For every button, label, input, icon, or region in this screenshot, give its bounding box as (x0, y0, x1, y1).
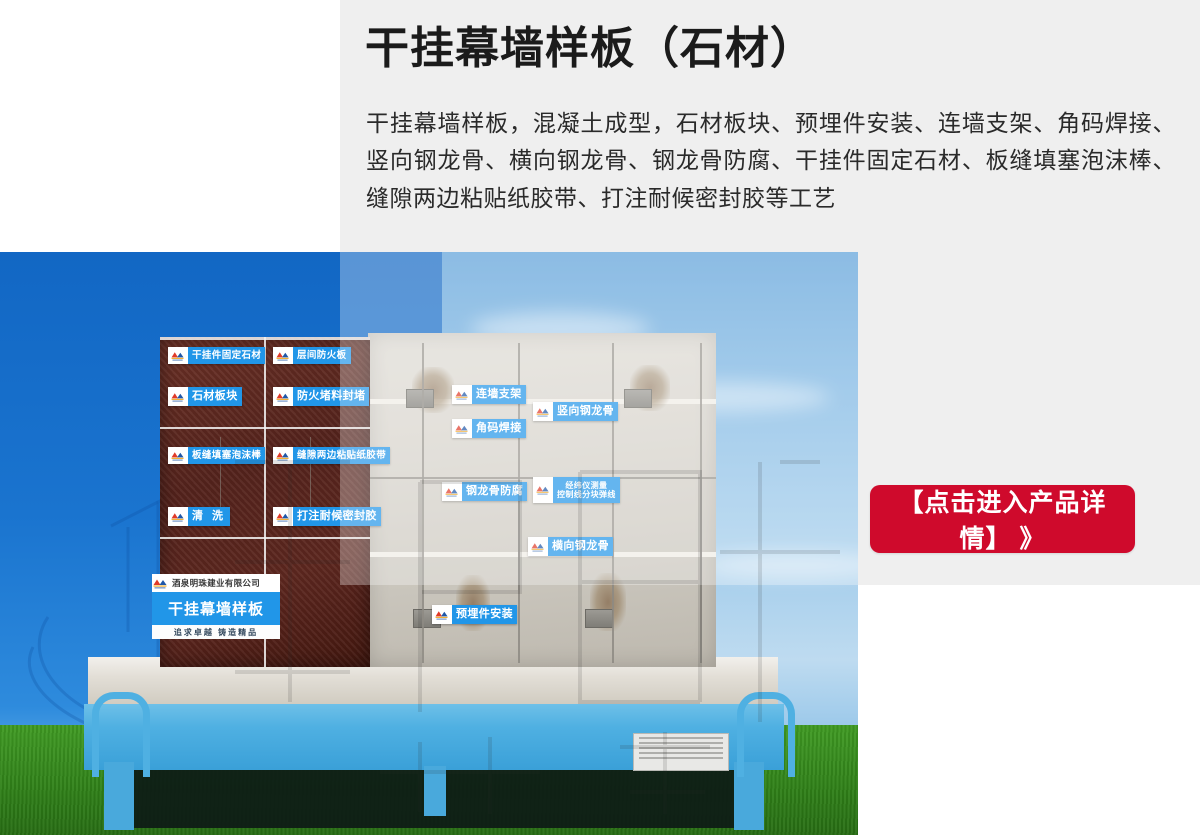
company-board: 酒泉明珠建业有限公司 干挂幕墙样板 追求卓越 铸造精品 (152, 574, 280, 639)
tag-label: 防火堵料封堵 (293, 387, 369, 406)
lifting-handle (737, 692, 795, 777)
company-logo-icon (168, 507, 188, 526)
company-logo-icon (152, 577, 169, 590)
tag-wall-2: 角码焊接 (452, 419, 526, 438)
tag-label-line2: 控制线分块弹线 (557, 490, 616, 499)
tag-stone-5: 缝隙两边粘贴纸胶带 (273, 447, 390, 464)
tag-label: 缝隙两边粘贴纸胶带 (293, 447, 390, 464)
tag-wall-3: 钢龙骨防腐 (442, 482, 527, 501)
tag-wall-4: 经纬仪测量 控制线分块弹线 (533, 477, 620, 503)
company-logo-icon (533, 477, 553, 503)
page-root: 干挂幕墙样板（石材） 干挂幕墙样板，混凝土成型，石材板块、预埋件安装、连墙支架、… (0, 0, 1200, 835)
tag-label: 干挂件固定石材 (188, 347, 265, 364)
company-logo-icon (168, 387, 188, 406)
company-logo-icon (168, 447, 188, 464)
company-logo-icon (432, 605, 452, 624)
wall-assembly: 酒泉明珠建业有限公司 干挂幕墙样板 追求卓越 铸造精品 干挂件固定石材 层间防火… (160, 337, 715, 685)
base-nameplate (633, 733, 729, 771)
lifting-handle (92, 692, 150, 777)
tag-label: 层间防火板 (293, 347, 351, 364)
keel-line (700, 343, 702, 663)
company-logo-icon (528, 537, 548, 556)
tag-stone-3: 防火堵料封堵 (273, 387, 369, 406)
base-leg (424, 766, 446, 816)
tag-wall-6: 预埋件安装 (432, 605, 517, 624)
tag-label: 打注耐候密封胶 (293, 507, 381, 526)
tag-wall-5: 横向钢龙骨 (528, 537, 613, 556)
tag-label: 竖向钢龙骨 (553, 402, 618, 421)
company-logo-icon (273, 447, 293, 464)
company-board-slogan: 追求卓越 铸造精品 (152, 625, 280, 639)
company-logo-icon (452, 419, 472, 438)
product-photo: 酒泉明珠建业有限公司 干挂幕墙样板 追求卓越 铸造精品 干挂件固定石材 层间防火… (0, 252, 858, 835)
tag-label: 预埋件安装 (452, 605, 517, 624)
tag-stone-6: 清 洗 (168, 507, 230, 526)
tag-wall-1: 竖向钢龙骨 (533, 402, 618, 421)
tag-label: 横向钢龙骨 (548, 537, 613, 556)
tag-label: 板缝填塞泡沫棒 (188, 447, 265, 464)
product-detail-button[interactable]: 【点击进入产品详情】 》 (870, 485, 1135, 553)
company-logo-icon (273, 507, 293, 526)
tag-wall-0: 连墙支架 (452, 385, 526, 404)
company-logo-icon (533, 402, 553, 421)
company-logo-icon (273, 387, 293, 406)
tag-stone-0: 干挂件固定石材 (168, 347, 265, 364)
tag-label: 连墙支架 (472, 385, 526, 404)
keel-line (422, 343, 424, 663)
wall-bracket (406, 389, 434, 408)
tag-label: 石材板块 (188, 387, 242, 406)
keel-line (612, 343, 614, 663)
tag-stone-2: 石材板块 (168, 387, 242, 406)
company-board-title: 干挂幕墙样板 (152, 592, 280, 625)
product-description: 干挂幕墙样板，混凝土成型，石材板块、预埋件安装、连墙支架、角码焊接、竖向钢龙骨、… (366, 105, 1176, 217)
company-logo-icon (168, 347, 188, 364)
tag-label-line1: 经纬仪测量 (565, 481, 607, 490)
tag-label: 清 洗 (188, 507, 230, 526)
company-logo-icon (452, 385, 472, 404)
tag-stone-7: 打注耐候密封胶 (273, 507, 381, 526)
tag-label: 角码焊接 (472, 419, 526, 438)
page-title: 干挂幕墙样板（石材） (365, 24, 1175, 75)
wall-bracket (585, 609, 613, 628)
tag-stone-4: 板缝填塞泡沫棒 (168, 447, 265, 464)
company-logo-icon (442, 482, 462, 501)
wall-bracket (624, 389, 652, 408)
company-board-logo-row: 酒泉明珠建业有限公司 (152, 574, 280, 592)
company-logo-icon (273, 347, 293, 364)
tag-stone-1: 层间防火板 (273, 347, 351, 364)
tag-label: 经纬仪测量 控制线分块弹线 (553, 477, 620, 503)
stone-seam (160, 337, 370, 340)
tag-label: 钢龙骨防腐 (462, 482, 527, 501)
company-name: 酒泉明珠建业有限公司 (169, 577, 260, 589)
